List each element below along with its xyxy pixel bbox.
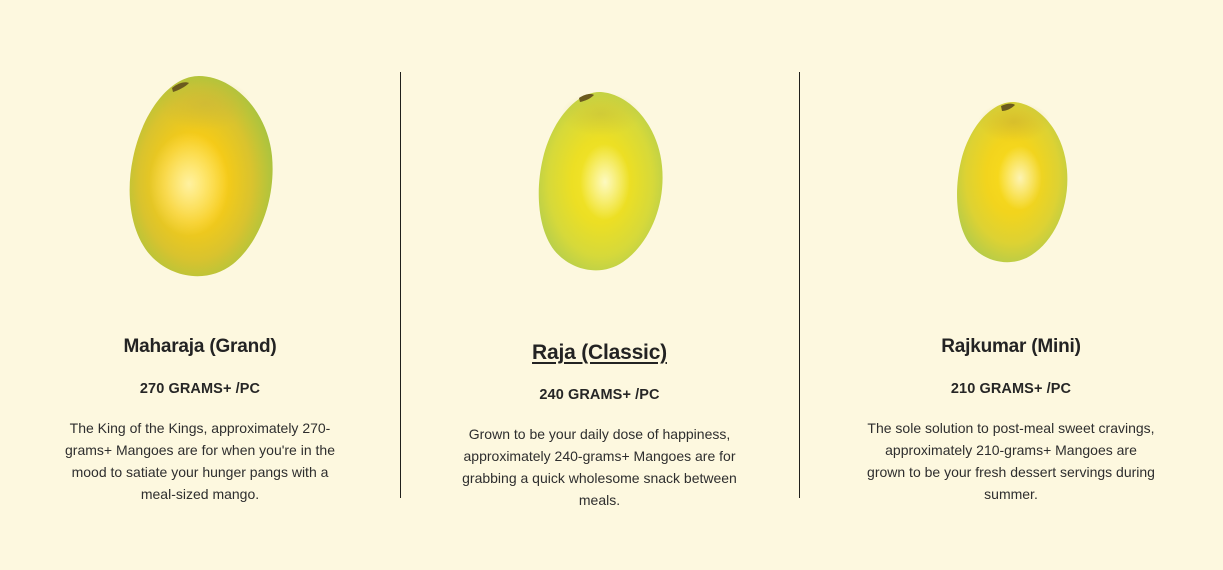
product-description: The King of the Kings, approximately 270… xyxy=(59,417,341,505)
product-title: Rajkumar (Mini) xyxy=(941,336,1081,359)
product-weight: 240 GRAMS+ /PC xyxy=(539,387,659,403)
product-title: Raja (Classic) xyxy=(532,340,667,365)
product-card-raja[interactable]: Raja (Classic) 240 GRAMS+ /PC Grown to b… xyxy=(400,0,799,570)
product-weight: 210 GRAMS+ /PC xyxy=(951,381,1071,397)
product-description: The sole solution to post-meal sweet cra… xyxy=(867,417,1155,505)
mango-image-stage xyxy=(0,62,400,294)
product-title: Maharaja (Grand) xyxy=(123,336,276,359)
mango-rajkumar-photo xyxy=(954,100,1069,268)
product-size-selector: Maharaja (Grand) 270 GRAMS+ /PC The King… xyxy=(0,0,1223,570)
product-description: Grown to be your daily dose of happiness… xyxy=(441,423,759,511)
mango-image-stage xyxy=(400,62,799,294)
product-card-rajkumar[interactable]: Rajkumar (Mini) 210 GRAMS+ /PC The sole … xyxy=(799,0,1223,570)
column-divider xyxy=(400,72,401,498)
product-card-maharaja[interactable]: Maharaja (Grand) 270 GRAMS+ /PC The King… xyxy=(0,0,400,570)
mango-maharaja-photo xyxy=(125,74,275,280)
column-divider xyxy=(799,72,800,498)
product-weight: 270 GRAMS+ /PC xyxy=(140,381,260,397)
mango-image-stage xyxy=(799,62,1223,294)
mango-raja-photo xyxy=(535,90,665,275)
